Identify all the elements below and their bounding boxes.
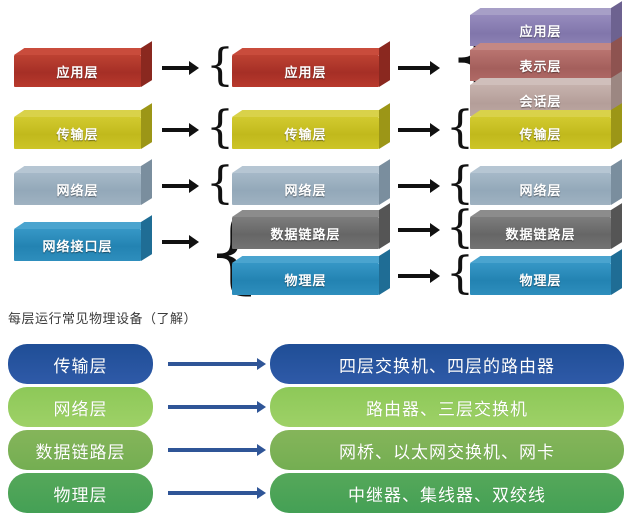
layer-label: 传输层	[470, 117, 611, 149]
layer-box-col1-0: 应用层	[14, 48, 152, 87]
box-top-bevel	[232, 166, 389, 173]
device-row-layer-2: 数据链路层	[8, 430, 153, 470]
layer-label: 网络层	[232, 173, 379, 205]
device-row-devices-3: 中继器、集线器、双绞线	[270, 473, 624, 513]
device-row-layer-1: 网络层	[8, 387, 153, 427]
layer-box-col3-4: 网络层	[470, 166, 622, 205]
box-top-bevel	[470, 110, 621, 117]
box-top-bevel	[470, 256, 621, 263]
box-side-face	[379, 159, 390, 205]
box-top-bevel	[232, 256, 389, 263]
layer-box-col2-1: 传输层	[232, 110, 390, 149]
box-side-face	[379, 103, 390, 149]
box-top-bevel	[14, 166, 151, 173]
arrow-col1-to-col2-3	[162, 240, 190, 244]
layer-box-col3-5: 数据链路层	[470, 210, 622, 249]
arrow-col1-to-col2-2	[162, 184, 190, 188]
arrow-col2-to-col3-4	[398, 274, 431, 278]
device-arrow-3	[168, 491, 258, 495]
layer-label: 表示层	[470, 50, 611, 81]
box-side-face	[141, 41, 152, 87]
section-caption: 每层运行常见物理设备（了解）	[8, 308, 197, 327]
box-top-bevel	[232, 210, 389, 217]
layer-label: 应用层	[232, 55, 379, 87]
box-side-face	[379, 41, 390, 87]
box-side-face	[611, 249, 622, 295]
box-top-bevel	[470, 210, 621, 217]
arrow-col1-to-col2-1	[162, 128, 190, 132]
layer-label: 传输层	[14, 117, 141, 149]
brace-col2-0: {	[206, 44, 234, 88]
box-top-bevel	[232, 110, 389, 117]
arrow-col2-to-col3-3	[398, 228, 431, 232]
layer-box-col1-2: 网络层	[14, 166, 152, 205]
layer-box-col3-1: 表示层	[470, 43, 622, 81]
layer-box-col2-4: 物理层	[232, 256, 390, 295]
arrow-col1-to-col2-0	[162, 66, 190, 70]
box-side-face	[141, 159, 152, 205]
brace-col2-1: {	[206, 106, 234, 150]
layer-label: 数据链路层	[470, 217, 611, 249]
device-row-layer-3: 物理层	[8, 473, 153, 513]
box-side-face	[141, 215, 152, 261]
arrow-col2-to-col3-2	[398, 184, 431, 188]
box-top-bevel	[232, 48, 389, 55]
layer-box-col2-0: 应用层	[232, 48, 390, 87]
layer-devices-diagram: 传输层 四层交换机、四层的路由器 网络层 路由器、三层交换机 数据链路层 网桥、…	[0, 340, 632, 514]
box-top-bevel	[14, 48, 151, 55]
arrow-col2-to-col3-1	[398, 128, 431, 132]
box-side-face	[611, 159, 622, 205]
box-top-bevel	[14, 222, 151, 229]
box-top-bevel	[470, 166, 621, 173]
layer-label: 网络接口层	[14, 229, 141, 261]
device-arrow-0	[168, 362, 258, 366]
layer-box-col1-1: 传输层	[14, 110, 152, 149]
tcpip-osi-model-diagram: 应用层 传输层 网络层 网络接口层 { { { { 应用层 传输层 网络层	[0, 0, 632, 300]
box-top-bevel	[470, 43, 621, 50]
box-side-face	[379, 203, 390, 249]
arrow-col2-to-col3-0	[398, 66, 431, 70]
layer-box-col3-6: 物理层	[470, 256, 622, 295]
layer-label: 数据链路层	[232, 217, 379, 249]
box-side-face	[141, 103, 152, 149]
layer-box-col2-3: 数据链路层	[232, 210, 390, 249]
device-row-devices-0: 四层交换机、四层的路由器	[270, 344, 624, 384]
device-row-devices-2: 网桥、以太网交换机、网卡	[270, 430, 624, 470]
layer-box-col3-3: 传输层	[470, 110, 622, 149]
device-row-layer-0: 传输层	[8, 344, 153, 384]
layer-label: 应用层	[14, 55, 141, 87]
box-side-face	[611, 203, 622, 249]
device-arrow-2	[168, 448, 258, 452]
box-side-face	[611, 103, 622, 149]
layer-label: 网络层	[470, 173, 611, 205]
layer-box-col1-3: 网络接口层	[14, 222, 152, 261]
box-side-face	[379, 249, 390, 295]
layer-box-col3-0: 应用层	[470, 8, 622, 46]
device-row-devices-1: 路由器、三层交换机	[270, 387, 624, 427]
layer-label: 网络层	[14, 173, 141, 205]
layer-label: 物理层	[232, 263, 379, 295]
layer-box-col2-2: 网络层	[232, 166, 390, 205]
device-arrow-1	[168, 405, 258, 409]
box-top-bevel	[470, 8, 621, 15]
box-top-bevel	[470, 78, 621, 85]
layer-label: 物理层	[470, 263, 611, 295]
layer-label: 传输层	[232, 117, 379, 149]
layer-label: 应用层	[470, 15, 611, 46]
box-top-bevel	[14, 110, 151, 117]
